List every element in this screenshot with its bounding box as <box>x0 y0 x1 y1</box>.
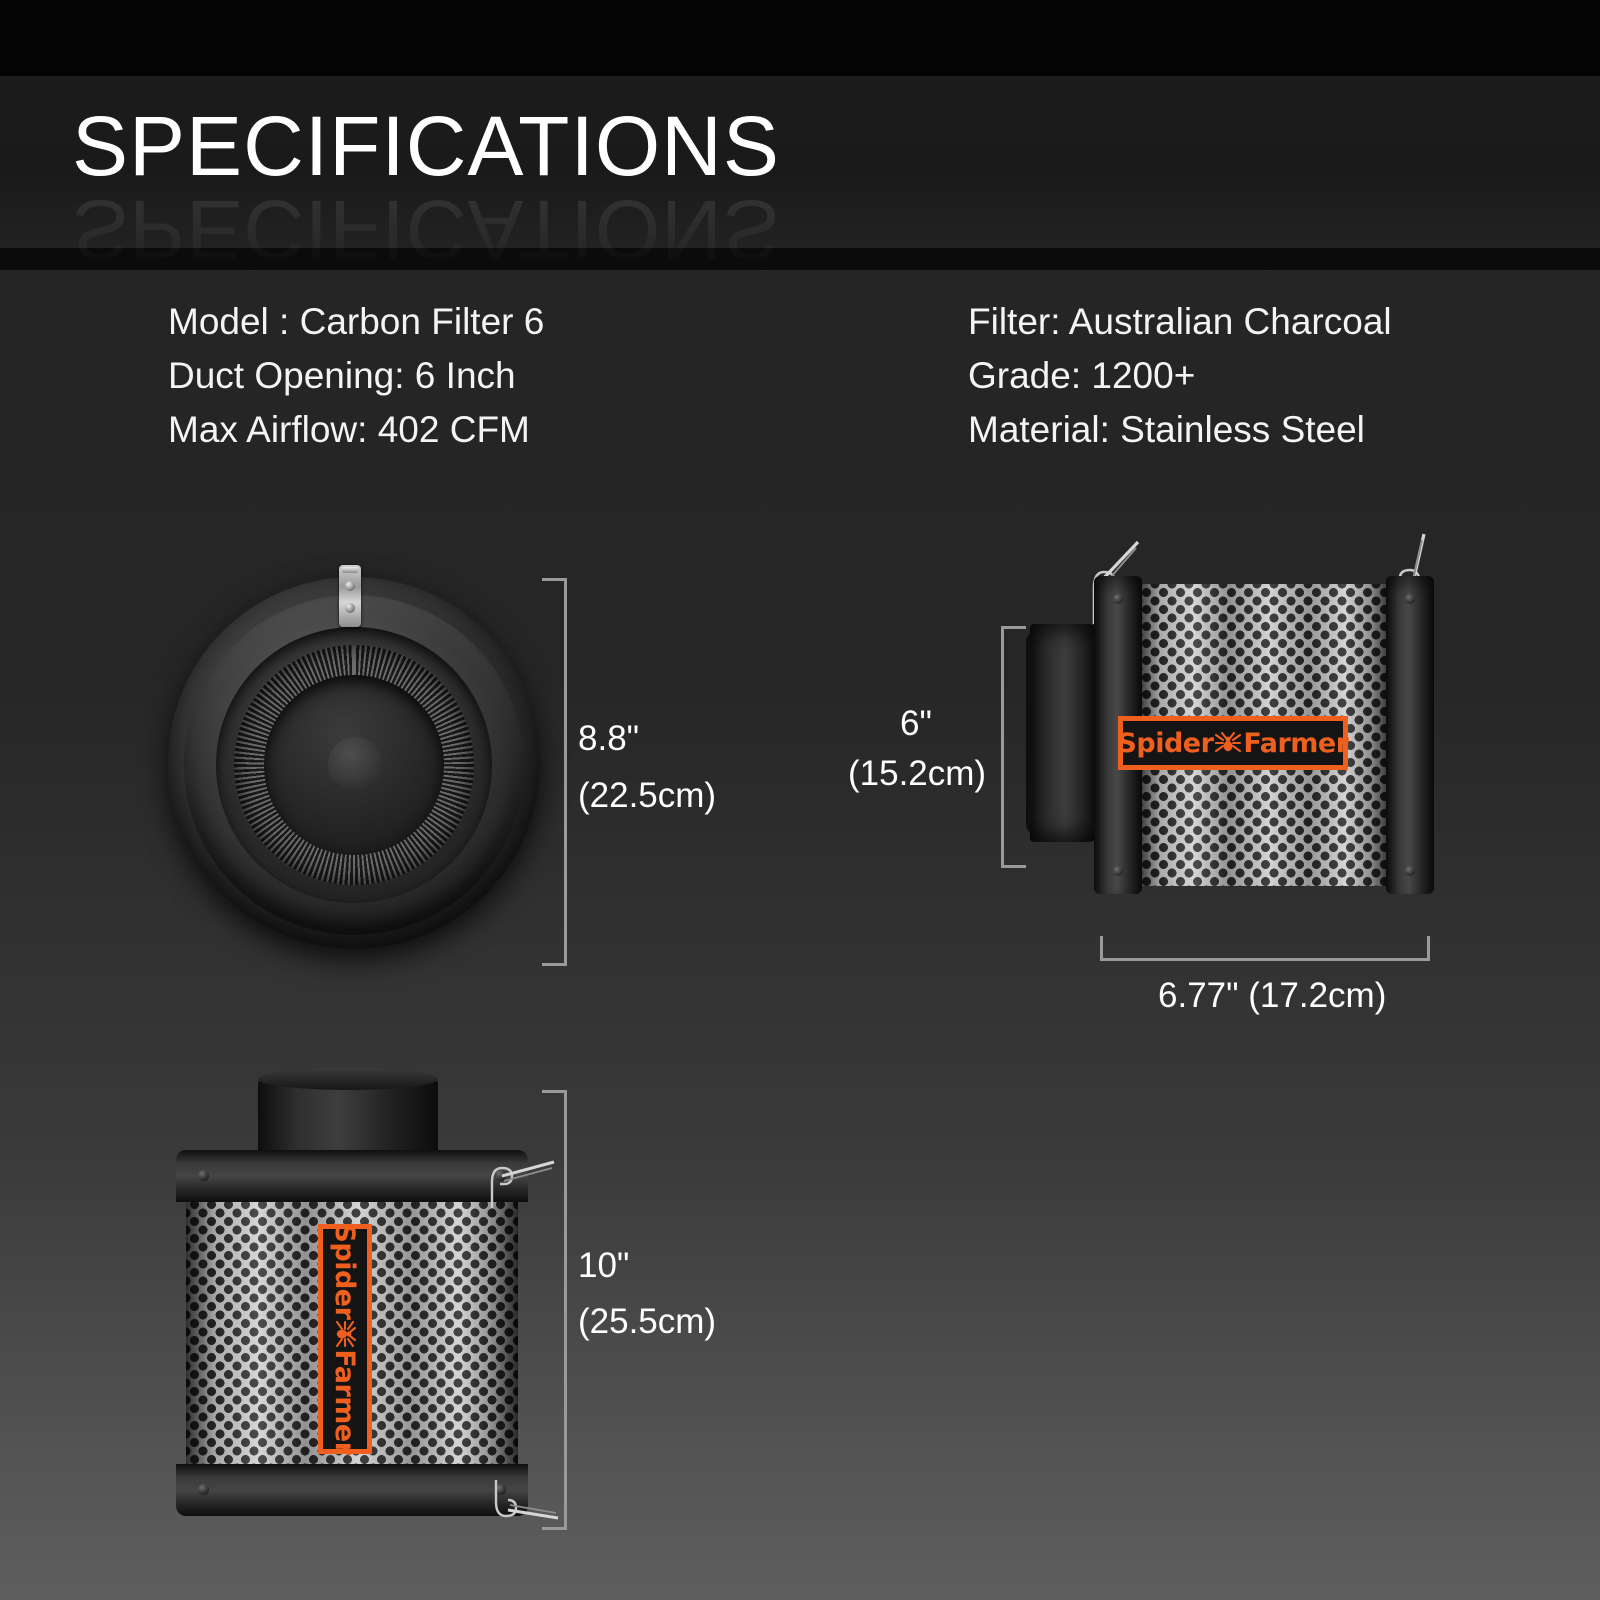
dimension-body-height-metric: (25.5cm) <box>578 1298 716 1346</box>
product-front-view <box>160 565 550 960</box>
brand-logo-plate-upright: Spider Farmer <box>318 1224 372 1454</box>
spec-model: Model : Carbon Filter 6 <box>168 295 544 349</box>
end-cap-screw-bottom-left <box>198 1484 209 1495</box>
dimension-side-height-metric: (15.2cm) <box>848 750 986 798</box>
clamp-tab <box>342 567 358 573</box>
dimension-front-diameter-metric: (22.5cm) <box>578 772 716 820</box>
bracket-cap-bottom <box>1001 865 1026 868</box>
duct-collar-opening <box>258 1068 438 1090</box>
brand-logo-text-vertical: Spider Farmer <box>330 1223 361 1454</box>
spec-grade: Grade: 1200+ <box>968 349 1392 403</box>
dimension-side-height-inches: 6" <box>900 700 932 748</box>
end-cap-screw-top-left <box>198 1170 209 1181</box>
duct-collar <box>1030 624 1098 842</box>
page-title: SPECIFICATIONS <box>72 104 780 188</box>
brand-logo-text: Spider Farmer <box>1117 728 1348 759</box>
clamp-screw-bottom <box>345 603 355 613</box>
bracket-cap-bottom <box>542 1527 567 1530</box>
bracket-stem <box>564 1090 567 1530</box>
product-side-view: Spider Farmer <box>1008 536 1448 934</box>
bracket-stem <box>1001 626 1004 868</box>
dimension-bracket-side-height <box>1000 626 1026 868</box>
dimension-bracket-front-diameter <box>542 578 568 966</box>
spec-material: Material: Stainless Steel <box>968 403 1392 457</box>
specification-sheet: SPECIFICATIONS SPECIFICATIONS Model : Ca… <box>0 0 1600 1600</box>
brand-logo-plate-upright-wrapper: Spider Farmer <box>318 1224 372 1454</box>
dimension-front-diameter-inches: 8.8" <box>578 715 639 763</box>
dimension-bracket-side-length <box>1100 936 1430 962</box>
filter-hub <box>328 737 382 791</box>
brand-word-one: Spider <box>330 1223 361 1319</box>
clamp-screw-top <box>345 581 355 591</box>
page-title-reflection: SPECIFICATIONS <box>72 188 780 272</box>
bracket-cap-right <box>1427 936 1430 961</box>
product-upright-view: Spider Farmer <box>176 1076 566 1546</box>
spec-column-right: Filter: Australian Charcoal Grade: 1200+… <box>968 295 1392 457</box>
end-cap-screw-bottom-right <box>1405 866 1415 876</box>
spec-max-airflow: Max Airflow: 402 CFM <box>168 403 544 457</box>
spider-icon <box>330 1319 360 1349</box>
end-cap-screw-top-right <box>1405 594 1415 604</box>
brand-logo-plate-side: Spider Farmer <box>1118 716 1348 770</box>
brand-word-one: Spider <box>1117 728 1213 759</box>
dimension-bracket-body-height <box>542 1090 568 1530</box>
brand-word-two: Farmer <box>1243 728 1348 759</box>
bracket-stem <box>564 578 567 966</box>
end-cap-bottom <box>176 1464 528 1516</box>
end-cap-screw-top-left <box>1113 594 1123 604</box>
spider-icon <box>1213 728 1243 758</box>
bracket-cap-bottom <box>542 963 567 966</box>
header-top-band <box>0 0 1600 76</box>
spec-duct-opening: Duct Opening: 6 Inch <box>168 349 544 403</box>
bracket-stem <box>1100 958 1430 961</box>
end-cap-right <box>1386 576 1434 894</box>
clamp-bracket-icon <box>339 565 361 627</box>
brand-word-two: Farmer <box>330 1349 361 1454</box>
spec-column-left: Model : Carbon Filter 6 Duct Opening: 6 … <box>168 295 544 457</box>
end-cap-top <box>176 1150 528 1202</box>
spec-filter: Filter: Australian Charcoal <box>968 295 1392 349</box>
bracket-cap-top <box>1001 626 1026 629</box>
dimension-body-height-inches: 10" <box>578 1242 629 1290</box>
end-cap-screw-bottom-left <box>1113 866 1123 876</box>
dimension-side-length: 6.77" (17.2cm) <box>1158 972 1386 1020</box>
